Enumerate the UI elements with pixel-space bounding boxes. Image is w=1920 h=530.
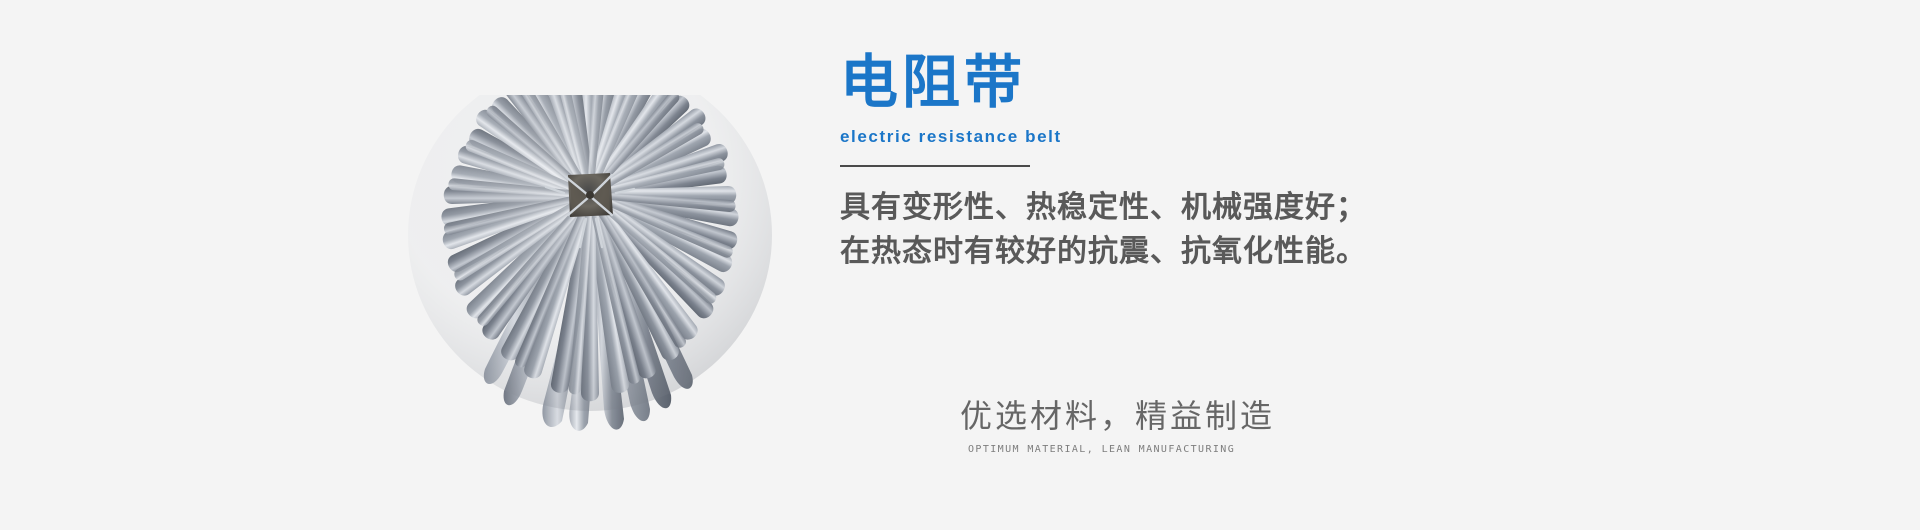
resistance-belt-coil-icon bbox=[400, 95, 780, 435]
title-block: 电阻带 electric resistance belt bbox=[840, 52, 1400, 167]
slogan-block: 优选材料，精益制造 OPTIMUM MATERIAL, LEAN MANUFAC… bbox=[960, 396, 1440, 457]
product-banner: 电阻带 electric resistance belt 具有变形性、热稳定性、… bbox=[0, 0, 1920, 530]
page-title: 电阻带 bbox=[840, 52, 1400, 114]
coil-spokes bbox=[408, 95, 772, 411]
description-block: 具有变形性、热稳定性、机械强度好； 在热态时有较好的抗震、抗氧化性能。 bbox=[840, 186, 1480, 274]
slogan-en: OPTIMUM MATERIAL, LEAN MANUFACTURING bbox=[968, 443, 1440, 457]
description-line-2: 在热态时有较好的抗震、抗氧化性能。 bbox=[840, 230, 1480, 274]
product-image bbox=[400, 95, 780, 435]
text-column: 电阻带 electric resistance belt 具有变形性、热稳定性、… bbox=[840, 0, 1840, 530]
description-line-1: 具有变形性、热稳定性、机械强度好； bbox=[840, 186, 1480, 230]
slogan-cn: 优选材料，精益制造 bbox=[960, 396, 1440, 436]
page-subtitle-en: electric resistance belt bbox=[840, 126, 1400, 148]
title-divider bbox=[840, 165, 1030, 167]
